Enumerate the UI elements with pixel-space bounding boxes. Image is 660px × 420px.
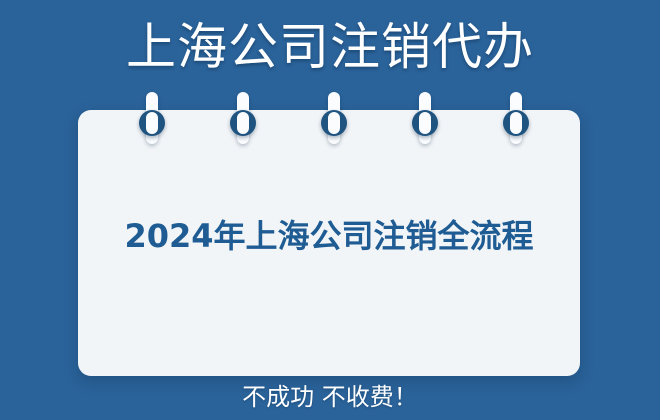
poster-canvas: 上海公司注销代办 2024年上海公司注销全流程: [0, 0, 660, 420]
poster-headline: 上海公司注销代办: [0, 16, 660, 78]
notepad-card: 2024年上海公司注销全流程: [78, 110, 580, 376]
card-title: 2024年上海公司注销全流程: [78, 214, 580, 258]
poster-slogan: 不成功 不收费！: [0, 381, 660, 413]
